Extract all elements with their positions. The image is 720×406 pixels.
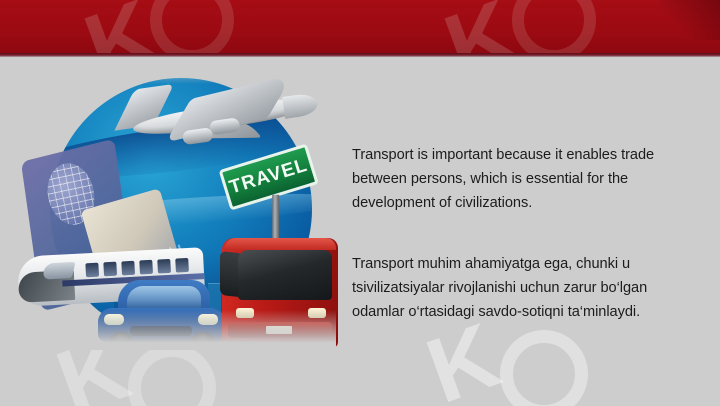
watermark-ring-icon [512,0,596,53]
bus-side-window [220,251,240,297]
airplane-nose [282,92,319,119]
artwork-top-fade [18,58,336,84]
banner-divider [0,53,720,57]
train-window [157,259,171,274]
watermark-logo-icon: K [416,310,508,406]
banner-corner-shade [660,0,720,40]
text-column: Transport is important because it enable… [352,143,696,324]
paragraph-uzbek: Transport muhim ahamiyatga ega, chunki u… [352,252,696,324]
train-window [121,261,135,276]
watermark-ring-icon [500,330,588,406]
header-banner: K K [0,0,720,53]
bus-windshield [238,250,332,300]
train-window [139,260,153,275]
paragraph-english: Transport is important because it enable… [352,143,696,215]
slide-canvas: K K K K [0,0,720,406]
car-windshield [127,286,201,310]
train-window [175,258,189,273]
watermark-logo-icon: K [74,0,166,53]
train-window [85,263,99,278]
watermark-logo-icon: K [434,0,526,53]
airplane-engine [182,127,214,145]
transport-collage-image: TRAVEL [18,58,336,350]
watermark-ring-icon [128,344,216,406]
artwork-bottom-fade [18,310,336,350]
train-cab-window [42,262,76,280]
watermark-ring-icon [150,0,234,53]
train-window [103,262,117,277]
bus-roof [224,238,336,250]
